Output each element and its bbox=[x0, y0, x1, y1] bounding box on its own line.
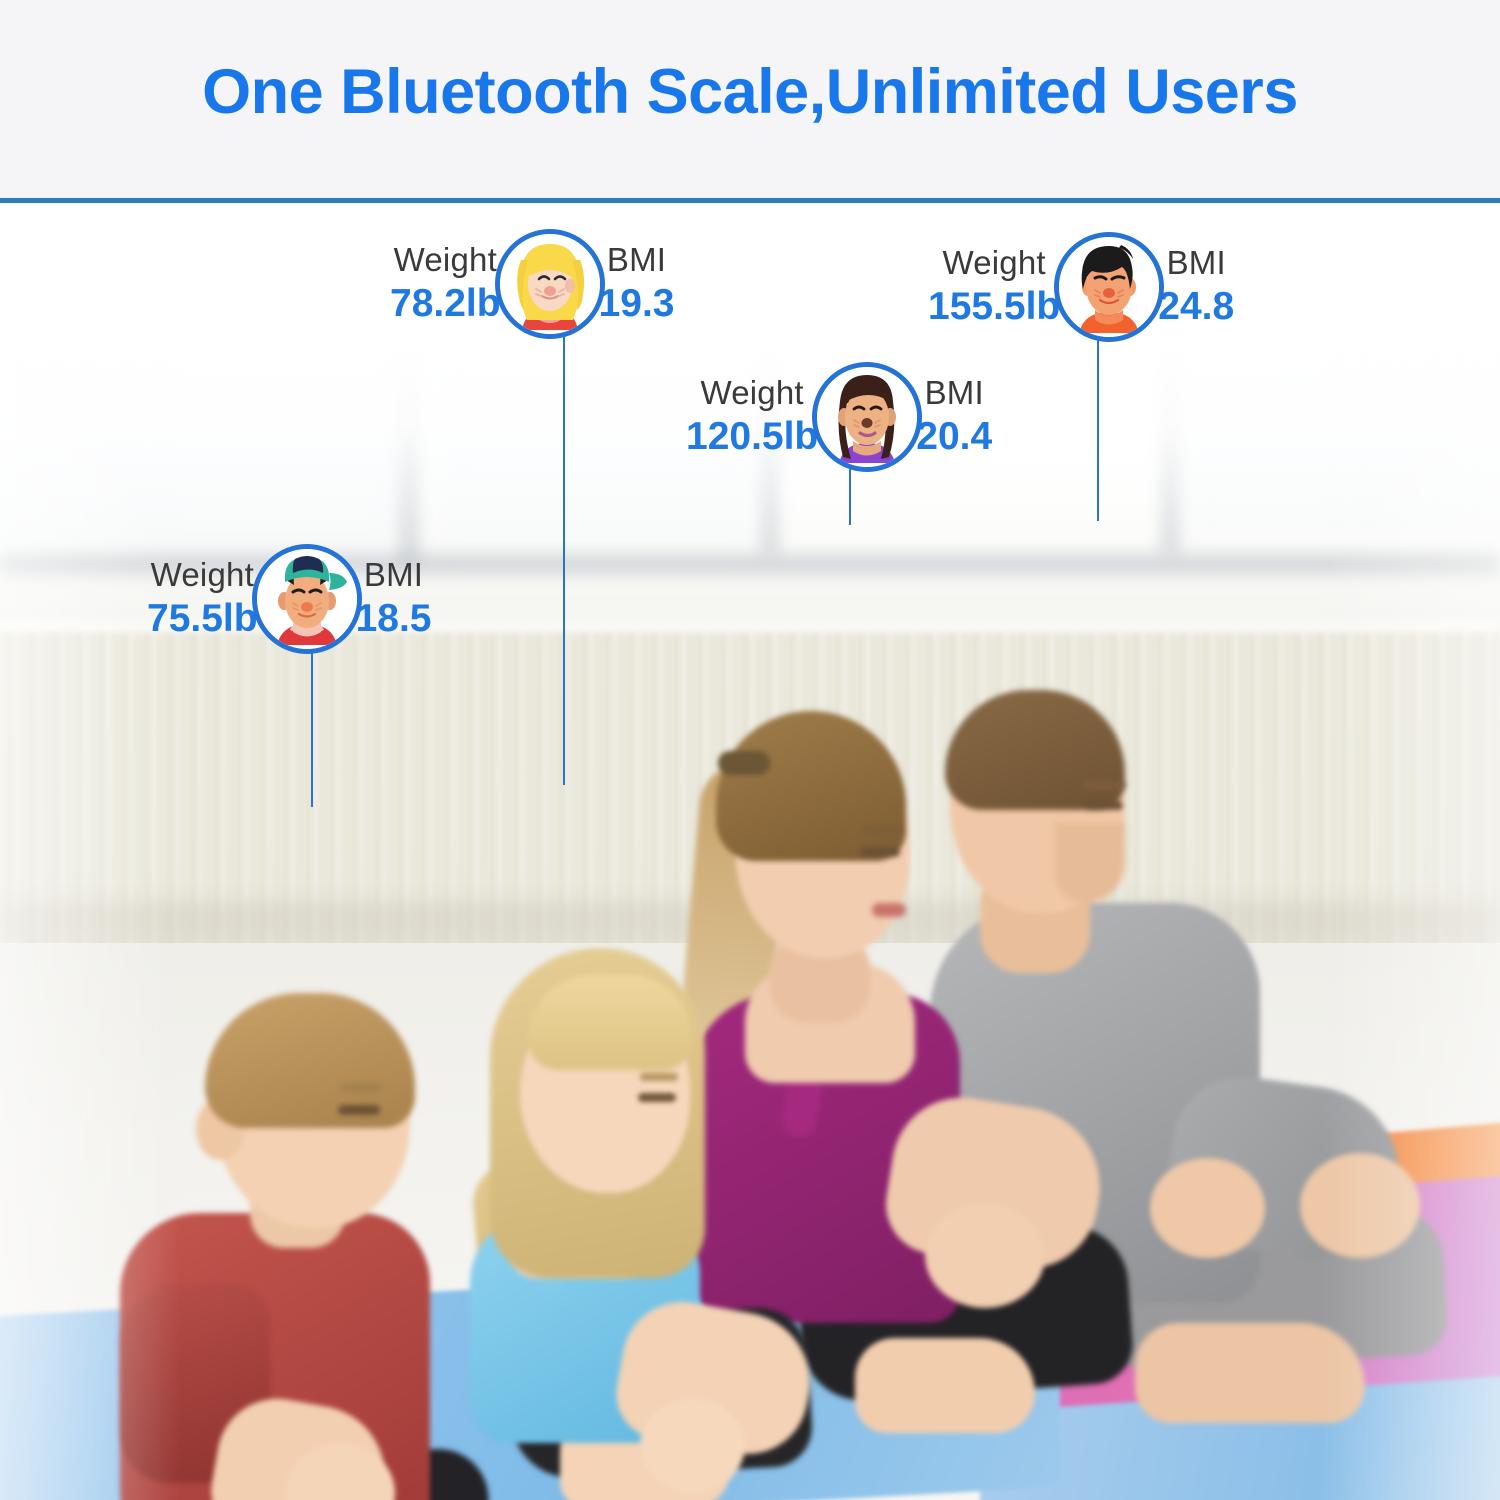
bmi-block-boy: BMI 18.5 bbox=[356, 558, 432, 640]
boy-with-cap-avatar-icon[interactable] bbox=[252, 544, 362, 654]
weight-value: 78.2lb bbox=[390, 284, 501, 325]
bmi-label: BMI bbox=[364, 558, 423, 593]
weight-block-man: Weight 155.5lb bbox=[928, 246, 1060, 328]
bmi-block-man: BMI 24.8 bbox=[1158, 246, 1234, 328]
leader-line-man bbox=[1097, 333, 1099, 521]
weight-label: Weight bbox=[942, 246, 1045, 281]
callout-girl-blonde[interactable]: Weight 78.2lb bbox=[390, 229, 674, 339]
callout-overlay: Weight 78.2lb bbox=[0, 0, 1500, 1500]
bmi-value: 20.4 bbox=[916, 417, 992, 458]
bmi-label: BMI bbox=[1167, 246, 1226, 281]
weight-value: 120.5lb bbox=[686, 417, 818, 458]
bmi-value: 18.5 bbox=[356, 599, 432, 640]
bmi-label: BMI bbox=[925, 376, 984, 411]
brown-hair-woman-avatar-icon[interactable] bbox=[812, 362, 922, 472]
leader-line-girl bbox=[563, 330, 565, 785]
blonde-girl-avatar-icon[interactable] bbox=[495, 229, 605, 339]
weight-value: 75.5lb bbox=[147, 599, 258, 640]
bmi-block-girl: BMI 19.3 bbox=[599, 243, 675, 325]
bmi-block-woman: BMI 20.4 bbox=[916, 376, 992, 458]
dark-hair-man-avatar-icon[interactable] bbox=[1054, 232, 1164, 342]
weight-label: Weight bbox=[700, 376, 803, 411]
bmi-value: 24.8 bbox=[1158, 287, 1234, 328]
bmi-value: 19.3 bbox=[599, 284, 675, 325]
bmi-label: BMI bbox=[607, 243, 666, 278]
product-infographic: One Bluetooth Scale,Unlimited Users bbox=[0, 0, 1500, 1500]
weight-label: Weight bbox=[394, 243, 497, 278]
callout-man-dark-hair[interactable]: Weight 155.5lb bbox=[928, 232, 1234, 342]
callout-boy-cap[interactable]: Weight 75.5lb bbox=[147, 544, 431, 654]
weight-value: 155.5lb bbox=[928, 287, 1060, 328]
weight-label: Weight bbox=[151, 558, 254, 593]
weight-block-boy: Weight 75.5lb bbox=[147, 558, 258, 640]
callout-woman-brown-hair[interactable]: Weight 120.5lb bbox=[686, 362, 992, 472]
weight-block-woman: Weight 120.5lb bbox=[686, 376, 818, 458]
weight-block-girl: Weight 78.2lb bbox=[390, 243, 501, 325]
leader-line-boy bbox=[311, 644, 313, 807]
